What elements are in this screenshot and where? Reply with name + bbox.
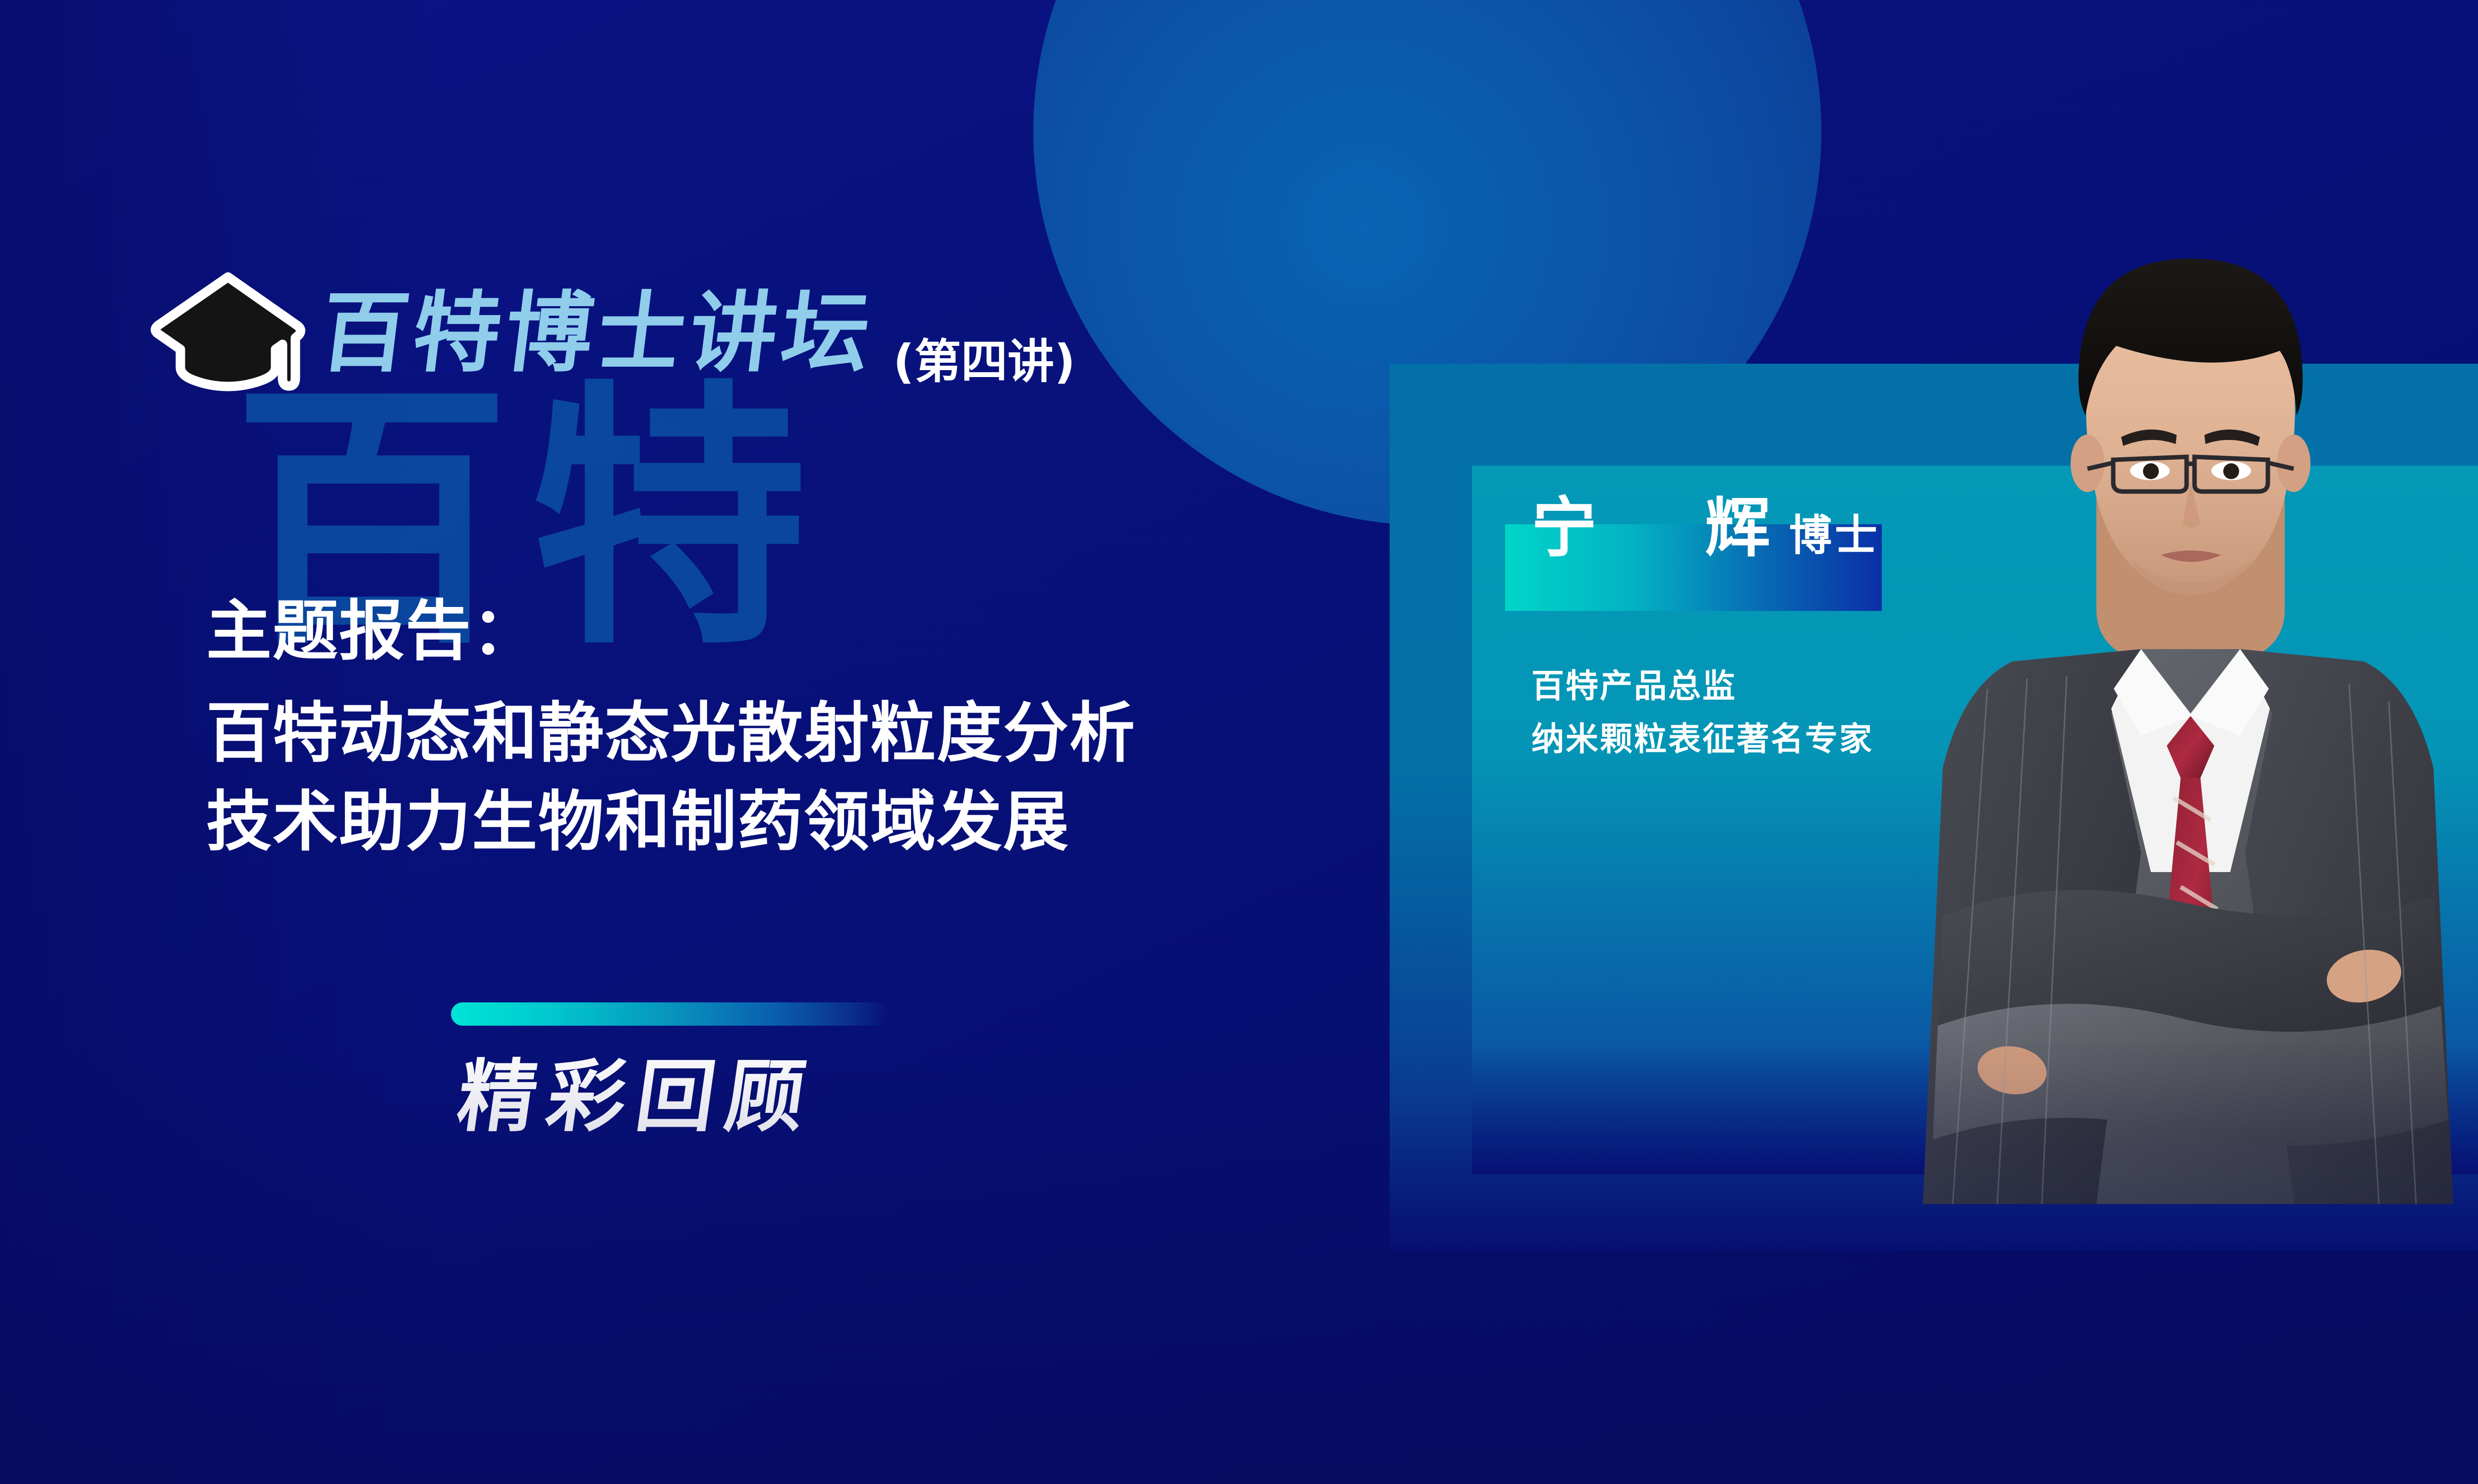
- headline-lead: 主题报告：: [206, 587, 1136, 676]
- headline: 主题报告： 百特动态和静态光散射粒度分析 技术助力生物和制药领域发展: [206, 587, 1136, 867]
- speaker-name-suffix: 博士: [1789, 514, 1880, 561]
- headline-line-2: 百特动态和静态光散射粒度分析: [206, 689, 1136, 778]
- promo-banner: 百特 百特博士讲坛 (第四讲) 主题报告： 百特动态和静态光散射粒度分析 技术助…: [0, 0, 2478, 1484]
- forum-session-label: (第四讲): [893, 339, 1075, 396]
- speaker-name: 宁 辉: [1531, 495, 1813, 561]
- credential-line: 纳米颗粒表征著名专家: [1531, 713, 1873, 766]
- graduation-cap-icon: [149, 270, 307, 396]
- forum-lockup: 百特博士讲坛 (第四讲): [149, 270, 1075, 396]
- speaker-credentials: 百特产品总监 纳米颗粒表征著名专家: [1531, 660, 1873, 766]
- speaker-name-row: 宁 辉 博士: [1531, 495, 1880, 561]
- headline-line-3: 技术助力生物和制药领域发展: [206, 778, 1136, 867]
- credential-line: 百特产品总监: [1531, 660, 1873, 713]
- bottom-fade: [0, 1038, 2478, 1484]
- accent-bar: [451, 1002, 887, 1026]
- forum-title: 百特博士讲坛: [316, 290, 880, 377]
